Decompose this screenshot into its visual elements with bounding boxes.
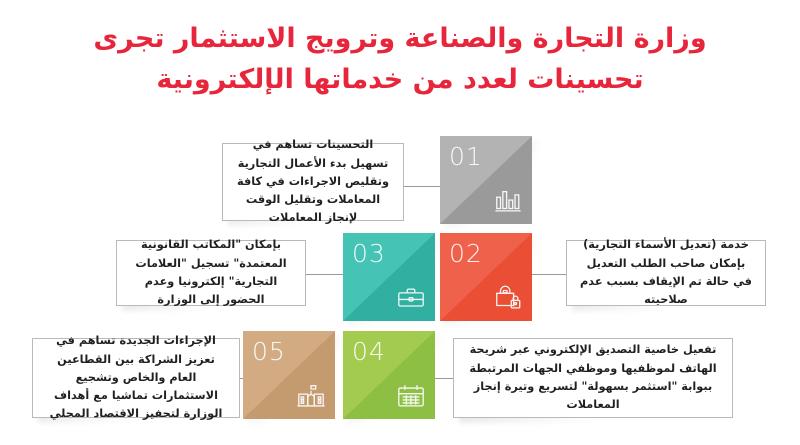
description-text-04: تفعيل خاصية التصديق الإلكتروني عبر شريحة… [454,336,732,419]
connector-03 [306,274,343,275]
page-title: وزارة التجارة والصناعة وترويج الاستثمار … [0,18,800,100]
card-01[interactable]: 01 [440,136,532,224]
description-text-05: الإجراءات الجديدة تساهم في تعزيز الشراكة… [33,327,239,428]
description-box-03: بإمكان "المكاتب القانونية المعتمدة" تسجي… [116,240,306,306]
card-number-04: 04 [352,337,386,366]
description-text-02: خدمة (تعديل الأسماء التجارية) بإمكان صاح… [567,231,765,314]
bar-chart-icon [493,186,523,216]
description-text-01: التحسينات تساهم في تسهيل بدء الأعمال الت… [223,131,403,232]
connector-01 [404,186,440,187]
card-03[interactable]: 03 [343,233,435,321]
card-02[interactable]: 02 [440,233,532,321]
description-box-05: الإجراءات الجديدة تساهم في تعزيز الشراكة… [32,338,240,418]
description-box-02: خدمة (تعديل الأسماء التجارية) بإمكان صاح… [566,240,766,306]
card-04[interactable]: 04 [343,331,435,419]
connector-02 [532,274,566,275]
card-number-02: 02 [449,239,483,268]
briefcase-lock-icon [493,283,523,313]
card-number-05: 05 [252,337,286,366]
title-line-2: تحسينات لعدد من خدماتها الإلكترونية [0,59,800,100]
calendar-icon [396,381,426,411]
description-box-04: تفعيل خاصية التصديق الإلكتروني عبر شريحة… [453,338,733,418]
briefcase-icon [396,283,426,313]
government-building-icon [296,381,326,411]
connector-04 [435,378,455,379]
title-line-1: وزارة التجارة والصناعة وترويج الاستثمار … [0,18,800,59]
description-text-03: بإمكان "المكاتب القانونية المعتمدة" تسجي… [117,231,305,314]
infographic-root: وزارة التجارة والصناعة وترويج الاستثمار … [0,0,800,445]
description-box-01: التحسينات تساهم في تسهيل بدء الأعمال الت… [222,143,404,221]
card-number-01: 01 [449,142,483,171]
card-number-03: 03 [352,239,386,268]
card-05[interactable]: 05 [243,331,335,419]
